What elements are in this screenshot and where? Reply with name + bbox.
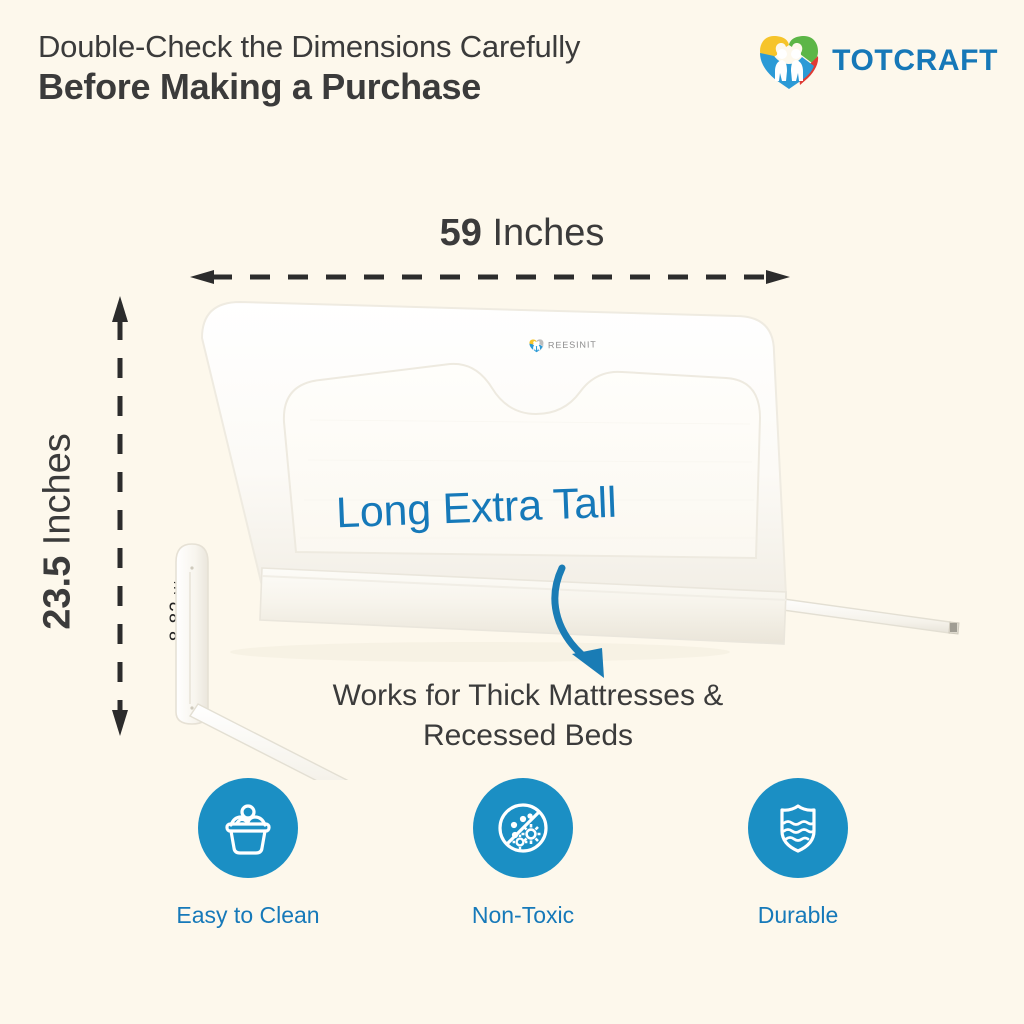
height-dimension-label: 23.5 Inches	[37, 382, 80, 682]
heart-puzzle-family-logo-icon	[758, 33, 820, 89]
rail-frame	[202, 302, 786, 610]
feature-easy-to-clean: Easy to Clean	[182, 778, 314, 929]
basket-bubbles-icon	[217, 797, 279, 859]
height-unit: Inches	[37, 433, 79, 545]
feature-label: Durable	[758, 902, 839, 929]
heart-puzzle-family-logo-small-icon	[529, 338, 544, 352]
rail-brand-name: REESINIT	[548, 339, 597, 350]
feature-icon-circle	[198, 778, 298, 878]
width-unit: Inches	[492, 212, 604, 254]
feature-non-toxic: Non-Toxic	[457, 778, 589, 929]
feature-icon-circle	[748, 778, 848, 878]
callout-line-2: Recessed Beds	[32, 716, 1024, 756]
callout-text: Works for Thick Mattresses & Recessed Be…	[0, 676, 1024, 755]
infographic-canvas: Double-Check the Dimensions Carefully Be…	[0, 0, 1024, 1024]
brand-logo: TOTCRAFT	[758, 33, 998, 89]
right-foot-bar	[761, 596, 959, 634]
rail-brand-badge: REESINIT	[529, 337, 597, 352]
feature-icon-circle	[473, 778, 573, 878]
callout-line-1: Works for Thick Mattresses &	[333, 679, 724, 712]
curved-arrow-down-icon	[548, 562, 668, 690]
page-title: Double-Check the Dimensions Carefully Be…	[38, 30, 738, 109]
width-dimension-arrow-icon	[190, 270, 790, 284]
height-value: 23.5	[37, 556, 79, 630]
shield-waves-icon	[767, 797, 829, 859]
width-dimension-label: 59 Inches	[0, 212, 1024, 255]
headline-line-1: Double-Check the Dimensions Carefully	[38, 30, 738, 65]
brand-name: TOTCRAFT	[832, 44, 998, 78]
feature-durable: Durable	[732, 778, 864, 929]
width-value: 59	[440, 212, 482, 254]
feature-list: Easy to Clean	[0, 778, 1024, 929]
height-dimension-arrow-icon	[112, 296, 128, 736]
feature-label: Non-Toxic	[472, 902, 574, 929]
feature-label: Easy to Clean	[176, 902, 319, 929]
no-germs-icon	[492, 797, 554, 859]
headline-line-2: Before Making a Purchase	[38, 65, 738, 109]
